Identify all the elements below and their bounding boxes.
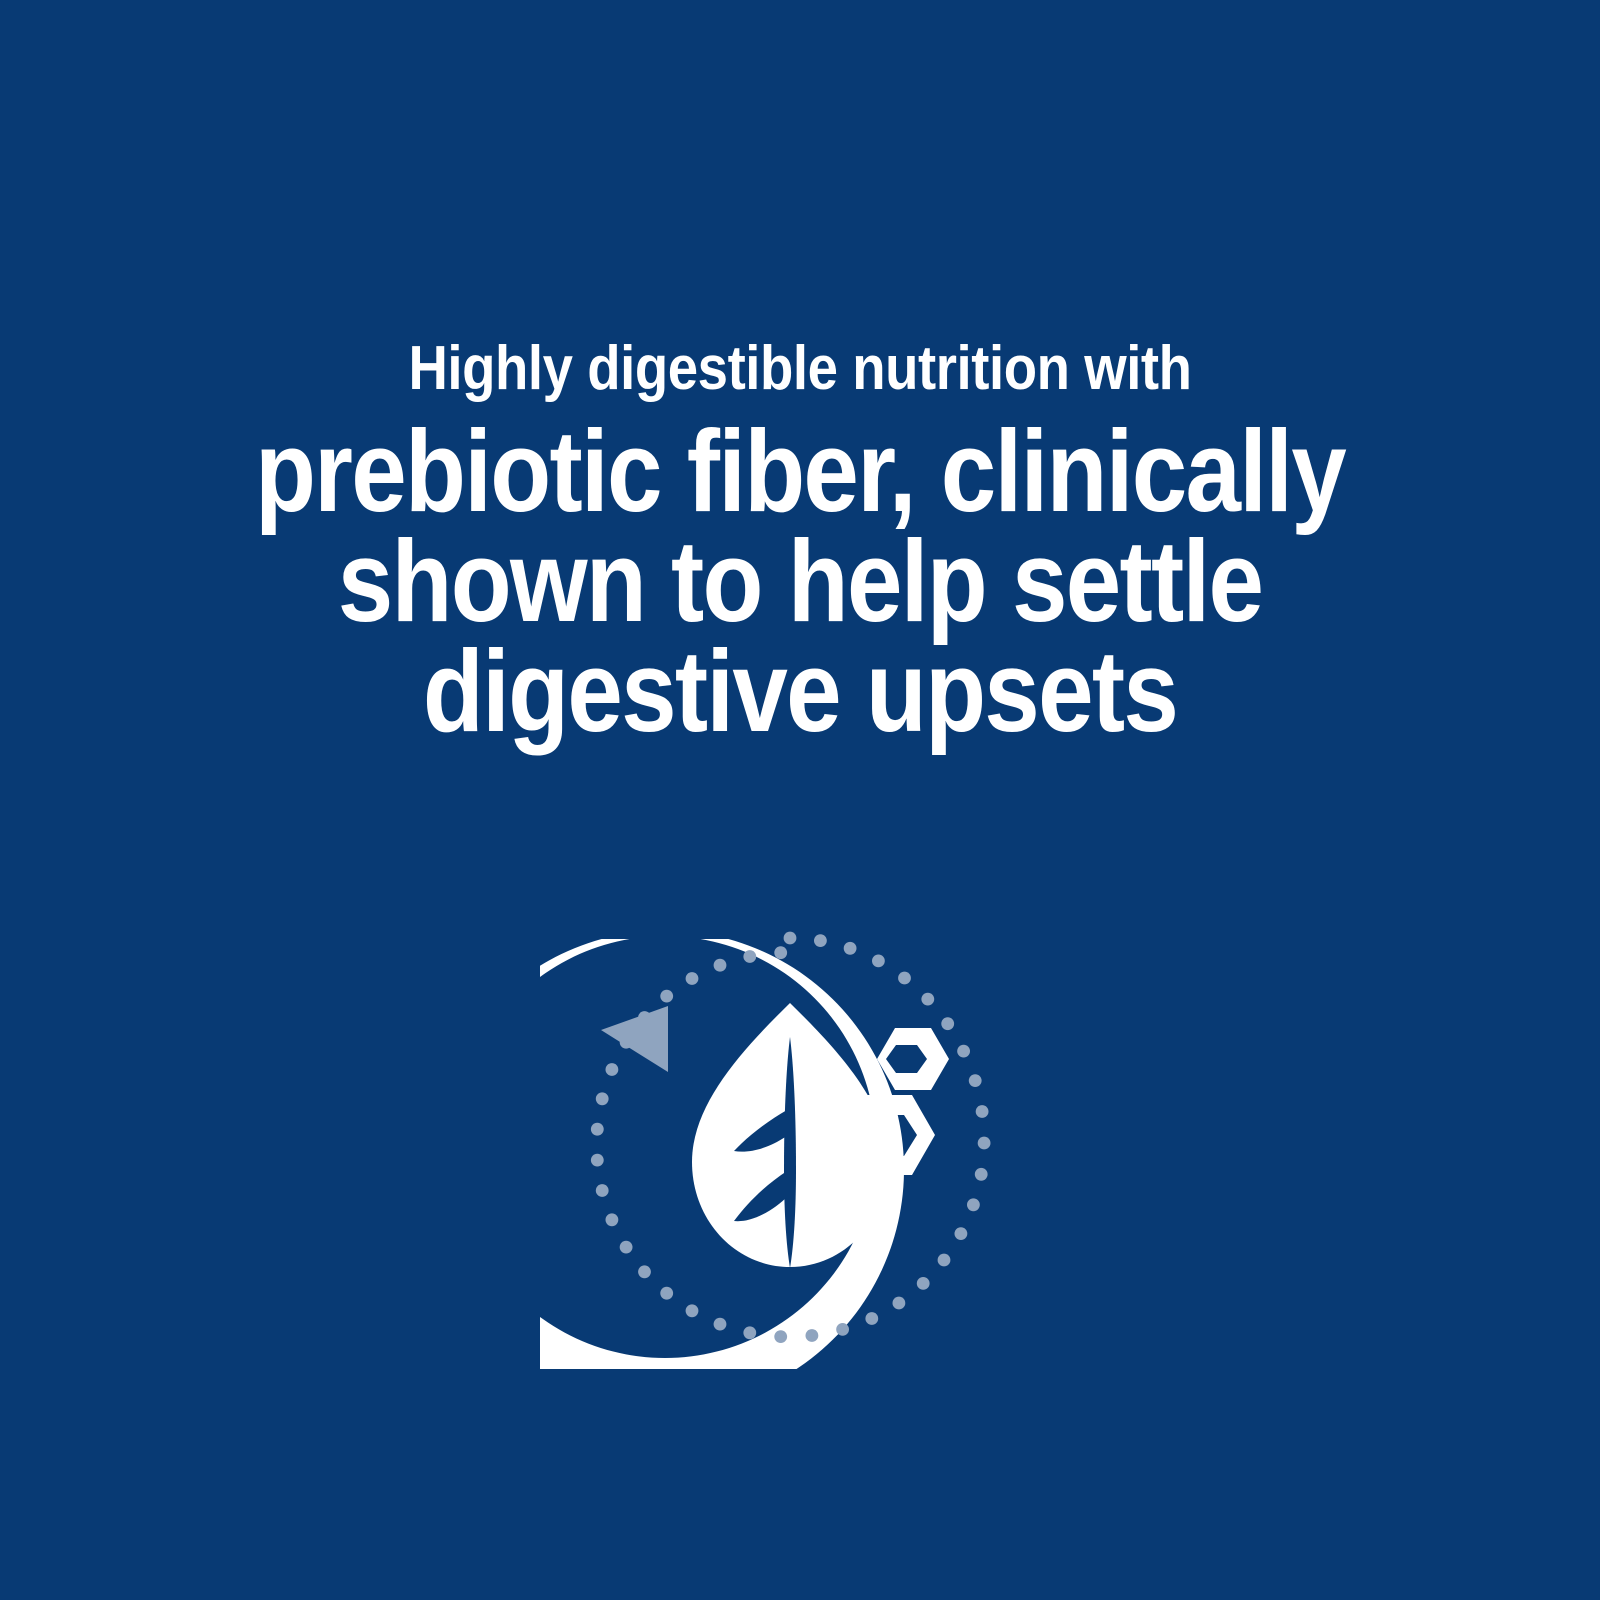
headline-line-2: shown to help settle — [112, 526, 1488, 636]
leaf-with-prebiotic-molecules-gauge-icon — [540, 869, 1040, 1369]
headline-line-3: digestive upsets — [112, 636, 1488, 746]
small-hexagon-outline-icon — [877, 1028, 949, 1090]
left-pointing-triangle-marker-icon — [601, 1006, 668, 1072]
headline-block: Highly digestible nutrition with prebiot… — [0, 336, 1600, 746]
headline-line-1: prebiotic fiber, clinically — [112, 416, 1488, 526]
headline-eyebrow: Highly digestible nutrition with — [96, 336, 1504, 402]
promo-banner: Highly digestible nutrition with prebiot… — [0, 0, 1600, 1600]
